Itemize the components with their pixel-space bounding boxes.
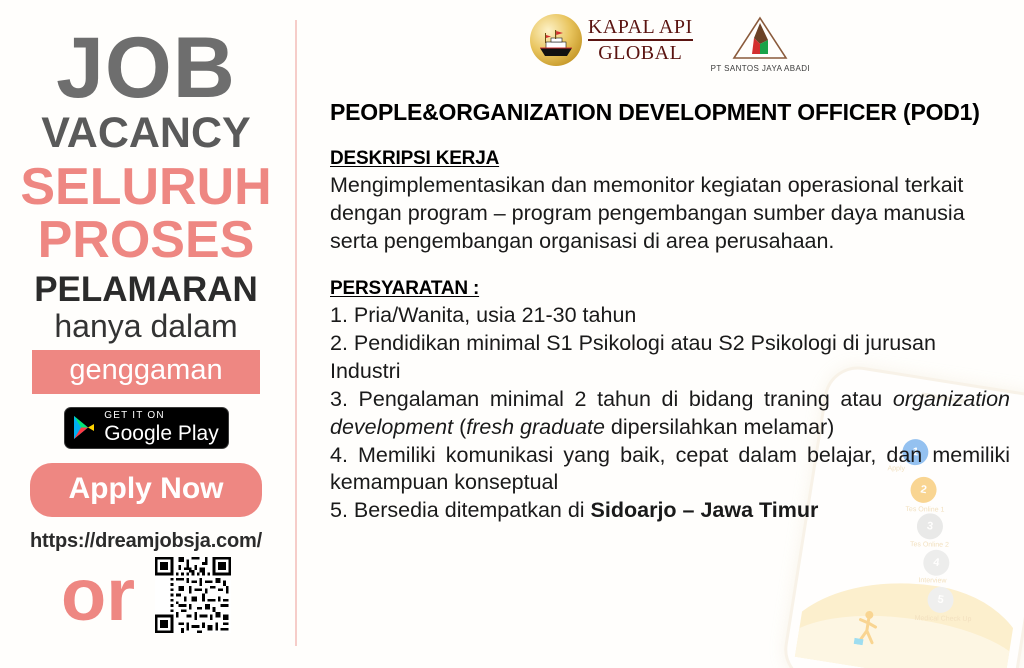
job-detail-panel: KAPAL API GLOBAL PT SANTOS JAYA ABADI PE… (330, 0, 1010, 668)
kapal-api-line2: GLOBAL (588, 43, 693, 63)
left-promo-panel: JOB VACANCY SELURUH PROSES PELAMARAN han… (0, 0, 292, 668)
kapal-api-wordmark: KAPAL API GLOBAL (588, 17, 693, 63)
requirements-heading: PERSYARATAN : (330, 278, 1010, 300)
company-logo-row: KAPAL API GLOBAL PT SANTOS JAYA ABADI (330, 0, 1010, 84)
requirement-item: 4. Memiliki komunikasi yang baik, cepat … (330, 442, 1010, 498)
google-play-triangle-icon (73, 415, 95, 440)
requirement-item: 1. Pria/Wanita, usia 21-30 tahun (330, 302, 1010, 330)
vertical-divider (295, 20, 297, 646)
requirement-item: 5. Bersedia ditempatkan di Sidoarjo – Ja… (330, 497, 1010, 525)
google-play-badge[interactable]: GET IT ON Google Play (64, 407, 229, 449)
kapal-api-global-logo: KAPAL API GLOBAL (530, 14, 693, 66)
description-heading: DESKRIPSI KERJA (330, 148, 1010, 170)
headline-pelamaran: PELAMARAN (0, 272, 292, 309)
requirement-item: 2. Pendidikan minimal S1 Psikologi atau … (330, 330, 1010, 386)
or-label: or (61, 558, 135, 632)
kapal-api-ship-emblem-icon (530, 14, 582, 66)
headline-job: JOB (0, 28, 292, 110)
ship-icon (536, 29, 576, 59)
or-qr-row: or (0, 557, 292, 633)
website-url[interactable]: https://dreamjobsja.com/ (0, 530, 292, 553)
requirement-item: 3. Pengalaman minimal 2 tahun di bidang … (330, 386, 1010, 442)
santos-triangle-icon (730, 14, 790, 62)
qr-code[interactable] (155, 557, 231, 633)
apply-now-label: Apply Now (69, 472, 224, 505)
headline-seluruh: SELURUH (0, 161, 292, 214)
santos-company-name: PT SANTOS JAYA ABADI (711, 64, 810, 73)
kapal-api-rule (588, 39, 693, 41)
google-play-get-it-on: GET IT ON (104, 411, 218, 421)
requirements-list: 1. Pria/Wanita, usia 21-30 tahun2. Pendi… (330, 302, 1010, 526)
apply-now-button[interactable]: Apply Now (30, 463, 262, 517)
job-vacancy-poster: 1 Apply 2 Tes Online 1 3 Tes Online 2 4 … (0, 0, 1024, 668)
headline-proses: PROSES (0, 214, 292, 267)
description-body: Mengimplementasikan dan memonitor kegiat… (330, 172, 1010, 256)
kapal-api-line1: KAPAL API (588, 17, 693, 37)
google-play-text: GET IT ON Google Play (104, 411, 218, 444)
headline-genggaman: genggaman (69, 354, 222, 386)
headline-vacancy: VACANCY (0, 112, 292, 155)
job-title: PEOPLE&ORGANIZATION DEVELOPMENT OFFICER … (330, 98, 1010, 126)
google-play-store-name: Google Play (104, 423, 218, 444)
genggaman-highlight-bar: genggaman (32, 350, 260, 394)
headline-hanya-dalam: hanya dalam (0, 309, 292, 344)
pt-santos-jaya-abadi-logo: PT SANTOS JAYA ABADI (711, 14, 810, 73)
